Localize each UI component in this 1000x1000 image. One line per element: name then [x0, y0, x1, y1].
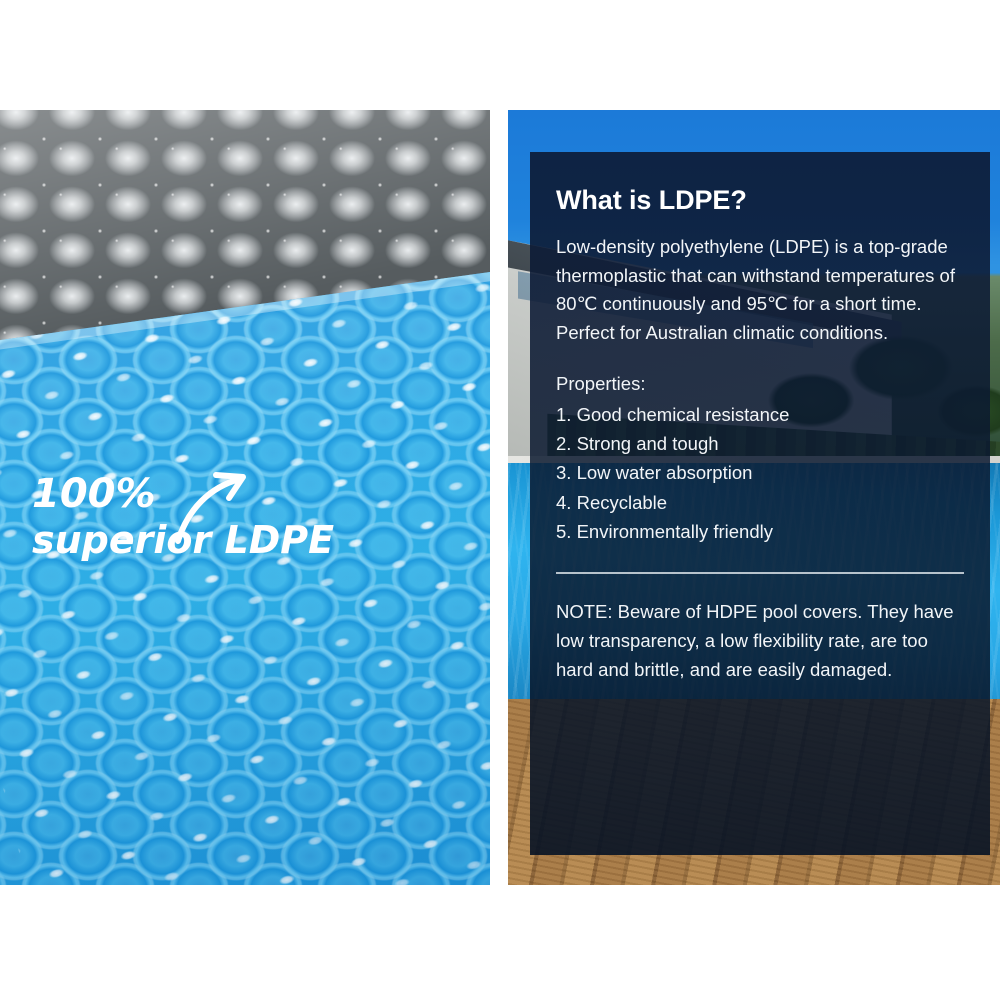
overlay-heading: What is LDPE?	[556, 186, 964, 216]
list-item-number: 1.	[556, 400, 571, 429]
list-item: 3. Low water absorption	[556, 458, 964, 487]
properties-label: Properties:	[556, 370, 964, 398]
list-item-number: 5.	[556, 517, 571, 546]
list-item-label: Recyclable	[577, 492, 668, 513]
list-item-number: 3.	[556, 458, 571, 487]
right-image-panel: What is LDPE? Low-density polyethylene (…	[508, 110, 1000, 885]
list-item: 5. Environmentally friendly	[556, 517, 964, 546]
list-item-number: 2.	[556, 429, 571, 458]
info-overlay-panel: What is LDPE? Low-density polyethylene (…	[530, 152, 990, 855]
list-item: 4. Recyclable	[556, 488, 964, 517]
list-item-label: Good chemical resistance	[577, 404, 790, 425]
list-item-label: Low water absorption	[577, 462, 753, 483]
list-item: 1. Good chemical resistance	[556, 400, 964, 429]
list-item: 2. Strong and tough	[556, 429, 964, 458]
left-image-panel: 100% superior LDPE	[0, 110, 490, 885]
list-item-label: Strong and tough	[577, 433, 719, 454]
section-divider	[556, 572, 964, 574]
properties-list: 1. Good chemical resistance 2. Strong an…	[556, 400, 964, 546]
list-item-label: Environmentally friendly	[577, 521, 773, 542]
list-item-number: 4.	[556, 488, 571, 517]
overlay-note-paragraph: NOTE: Beware of HDPE pool covers. They h…	[556, 598, 964, 685]
overlay-intro-paragraph: Low-density polyethylene (LDPE) is a top…	[556, 233, 964, 348]
